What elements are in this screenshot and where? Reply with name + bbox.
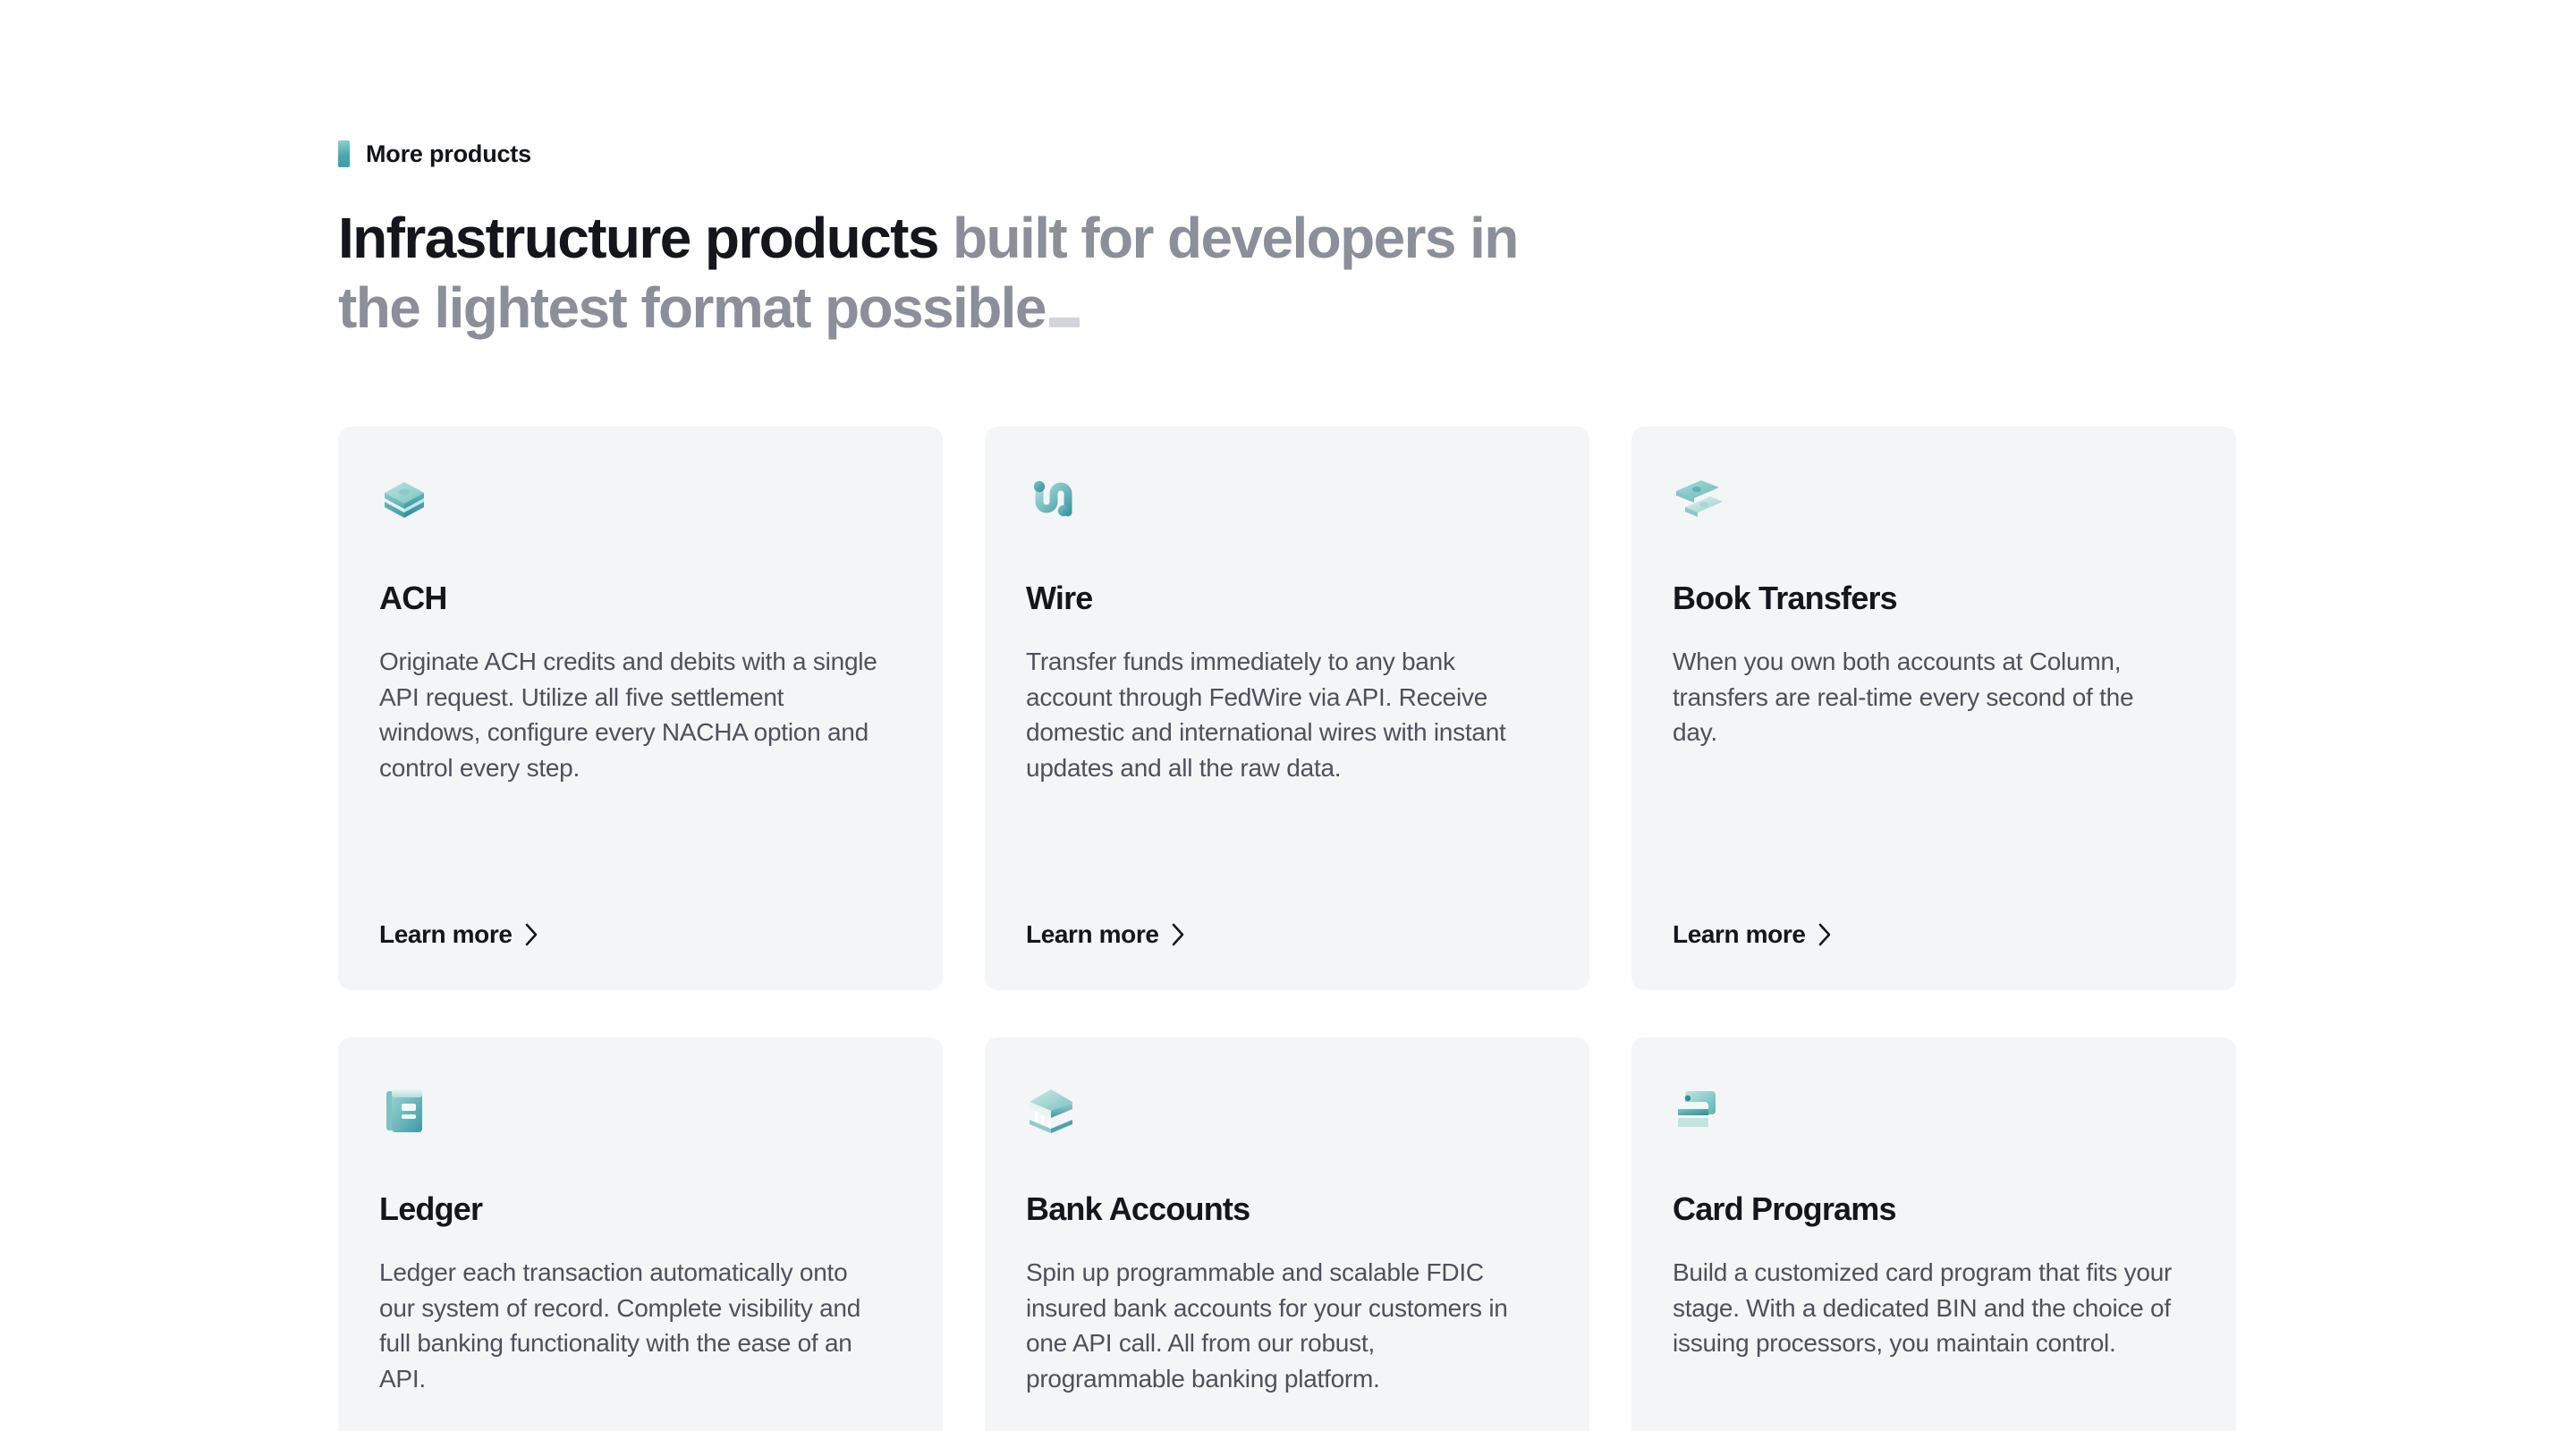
product-card-wire[interactable]: Wire Transfer funds immediately to any b…: [985, 427, 1589, 990]
card-spacer: [379, 1397, 902, 1431]
cash-stack-icon: [379, 475, 429, 525]
product-card-card-programs[interactable]: Card Programs Build a customized card pr…: [1631, 1037, 2236, 1431]
book-icon: [379, 1086, 429, 1136]
card-spacer: [1673, 1361, 2195, 1431]
product-card-grid: ACH Originate ACH credits and debits wit…: [338, 427, 2240, 1431]
card-spacer: [1673, 750, 2195, 920]
card-title: Ledger: [379, 1191, 902, 1227]
product-card-book-transfers[interactable]: Book Transfers When you own both account…: [1631, 427, 2236, 990]
product-card-bank-accounts[interactable]: Bank Accounts Spin up programmable and s…: [985, 1037, 1589, 1431]
card-description: Spin up programmable and scalable FDIC i…: [1026, 1255, 1527, 1397]
chevron-right-icon: [1171, 923, 1186, 946]
card-title: Wire: [1026, 580, 1548, 616]
page-root: More products Infrastructure products bu…: [0, 0, 2576, 1431]
product-card-ach[interactable]: ACH Originate ACH credits and debits wit…: [338, 427, 943, 990]
learn-more-label: Learn more: [1673, 920, 1806, 949]
chevron-right-icon: [1818, 923, 1833, 946]
learn-more-link[interactable]: Learn more: [1673, 920, 1833, 949]
card-description: Build a customized card program that fit…: [1673, 1255, 2173, 1361]
text-cursor-icon: [1049, 318, 1080, 327]
eyebrow-label: More products: [366, 140, 531, 167]
stacked-planes-icon: [1673, 475, 1723, 525]
card-spacer: [379, 786, 902, 920]
card-description: Ledger each transaction automatically on…: [379, 1255, 880, 1397]
card-title: Card Programs: [1673, 1191, 2195, 1227]
chevron-right-icon: [524, 923, 539, 946]
bank-building-icon: [1026, 1086, 1076, 1136]
card-description: When you own both accounts at Column, tr…: [1673, 644, 2173, 750]
page-title: Infrastructure products built for develo…: [338, 203, 1608, 343]
learn-more-link[interactable]: Learn more: [1026, 920, 1186, 949]
learn-more-label: Learn more: [1026, 920, 1159, 949]
product-card-ledger[interactable]: Ledger Ledger each transaction automatic…: [338, 1037, 943, 1431]
card-title: Book Transfers: [1673, 580, 2195, 616]
payment-cards-icon: [1673, 1086, 1723, 1136]
card-spacer: [1026, 786, 1548, 920]
card-title: Bank Accounts: [1026, 1191, 1548, 1227]
card-spacer: [1026, 1397, 1548, 1431]
card-description: Originate ACH credits and debits with a …: [379, 644, 880, 786]
learn-more-link[interactable]: Learn more: [379, 920, 539, 949]
headline-strong: Infrastructure products: [338, 206, 938, 270]
learn-more-label: Learn more: [379, 920, 513, 949]
card-description: Transfer funds immediately to any bank a…: [1026, 644, 1527, 786]
card-title: ACH: [379, 580, 902, 616]
section-container: More products Infrastructure products bu…: [338, 0, 2240, 1431]
section-eyebrow: More products: [338, 140, 2240, 167]
accent-bar-icon: [338, 140, 350, 167]
wire-squiggle-icon: [1026, 475, 1076, 525]
